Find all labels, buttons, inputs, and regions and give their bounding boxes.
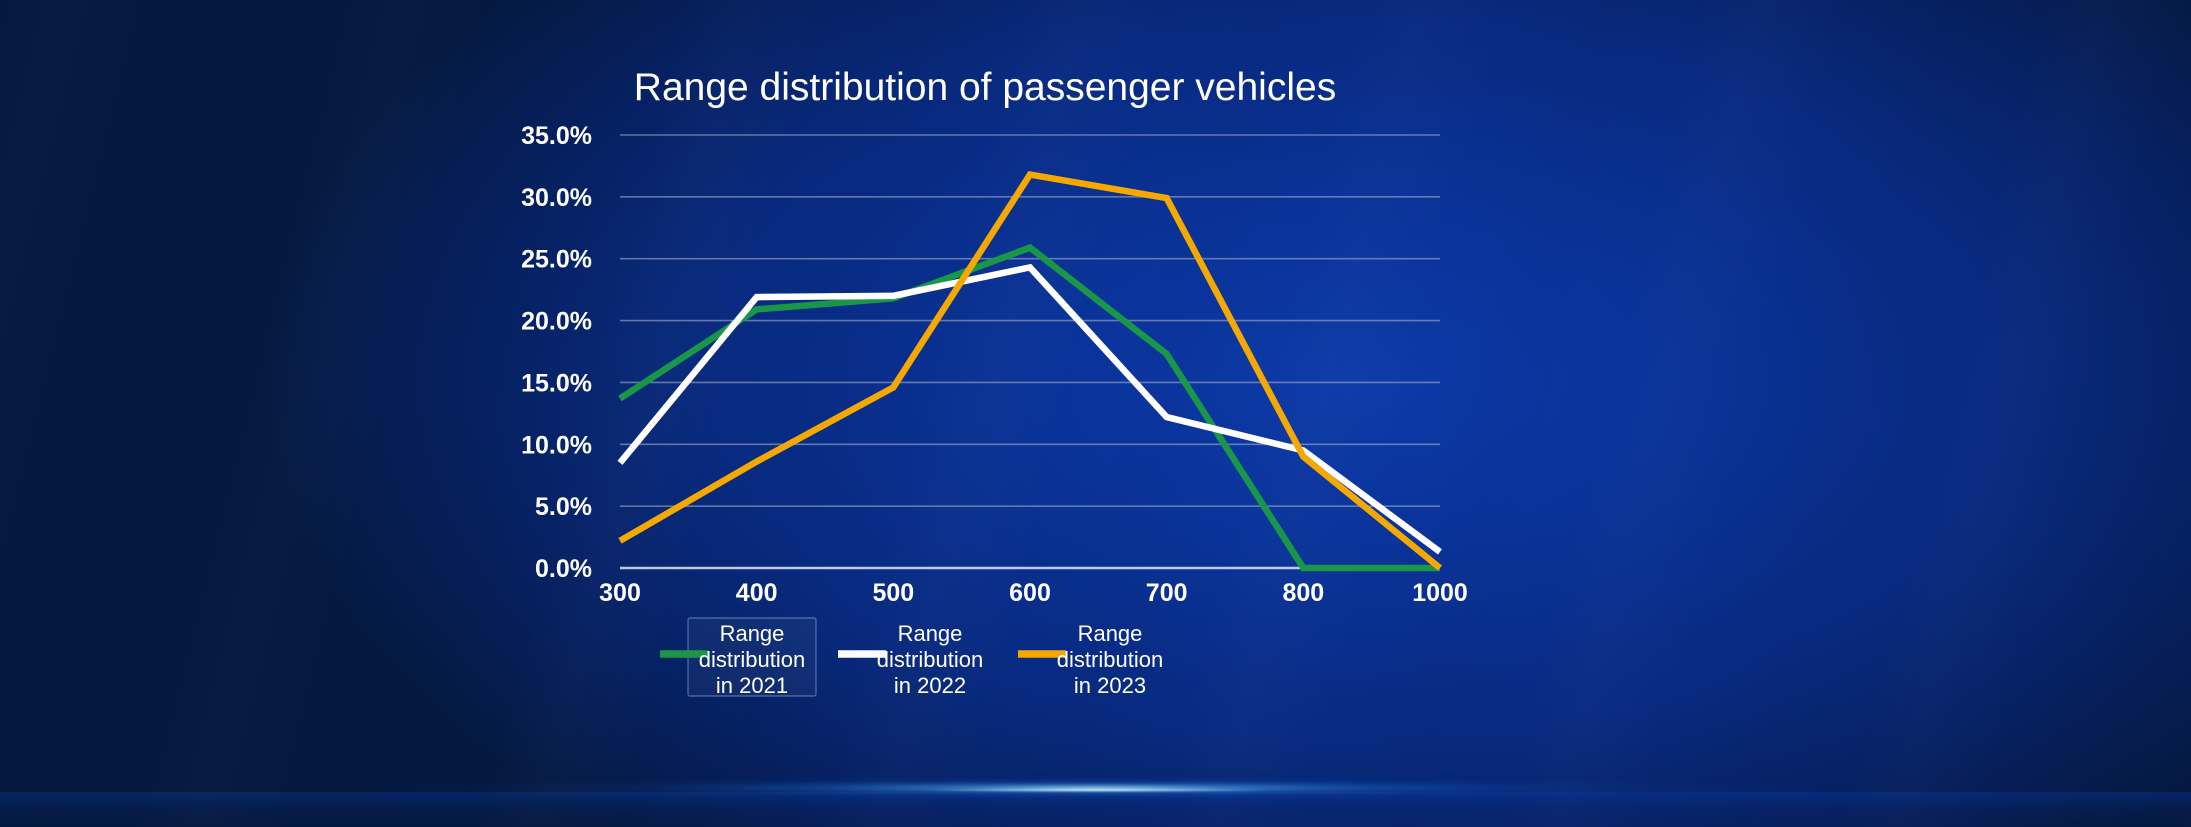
x-axis-tick-label: 1000	[1412, 579, 1468, 607]
legend-label-line: Range	[1078, 621, 1143, 646]
x-axis-tick-label: 600	[1009, 579, 1051, 607]
legend-label-line: distribution	[1057, 647, 1163, 672]
chart-title: Range distribution of passenger vehicles	[634, 66, 1336, 109]
y-axis-tick-label: 20.0%	[521, 308, 592, 336]
series-line-2[interactable]	[620, 267, 1440, 552]
x-axis-tick-label: 800	[1282, 579, 1324, 607]
chart-legend: Rangedistributionin 2021Rangedistributio…	[660, 618, 1163, 698]
chart-canvas: Range distribution of passenger vehicles…	[0, 0, 2191, 827]
legend-label-line: in 2021	[716, 673, 788, 698]
y-axis-tick-label: 15.0%	[521, 369, 592, 397]
legend-label-line: Range	[720, 621, 785, 646]
y-axis-tick-label: 35.0%	[521, 122, 592, 150]
legend-label-line: in 2022	[894, 673, 966, 698]
series-line-3[interactable]	[620, 175, 1440, 568]
x-axis-tick-labels: 3004005006007008001000	[599, 579, 1468, 607]
y-axis-tick-label: 25.0%	[521, 246, 592, 274]
x-axis-tick-label: 300	[599, 579, 641, 607]
y-axis-tick-label: 30.0%	[521, 184, 592, 212]
legend-item-1[interactable]: Rangedistributionin 2021	[660, 618, 816, 698]
y-axis-tick-label: 5.0%	[535, 493, 592, 521]
y-axis-tick-label: 10.0%	[521, 431, 592, 459]
legend-label-line: distribution	[699, 647, 805, 672]
legend-label-line: distribution	[877, 647, 983, 672]
y-axis-tick-labels: 0.0%5.0%10.0%15.0%20.0%25.0%30.0%35.0%	[521, 122, 592, 583]
data-series-lines	[620, 175, 1440, 568]
series-line-1[interactable]	[620, 248, 1440, 568]
x-axis-tick-label: 500	[872, 579, 914, 607]
legend-label-line: Range	[898, 621, 963, 646]
legend-item-3[interactable]: Rangedistributionin 2023	[1018, 621, 1163, 698]
x-axis-tick-label: 400	[736, 579, 778, 607]
y-axis-tick-label: 0.0%	[535, 555, 592, 583]
x-axis-tick-label: 700	[1146, 579, 1188, 607]
legend-label-line: in 2023	[1074, 673, 1146, 698]
legend-item-2[interactable]: Rangedistributionin 2022	[838, 621, 983, 698]
line-chart-figure: Range distribution of passenger vehicles…	[0, 0, 2191, 827]
